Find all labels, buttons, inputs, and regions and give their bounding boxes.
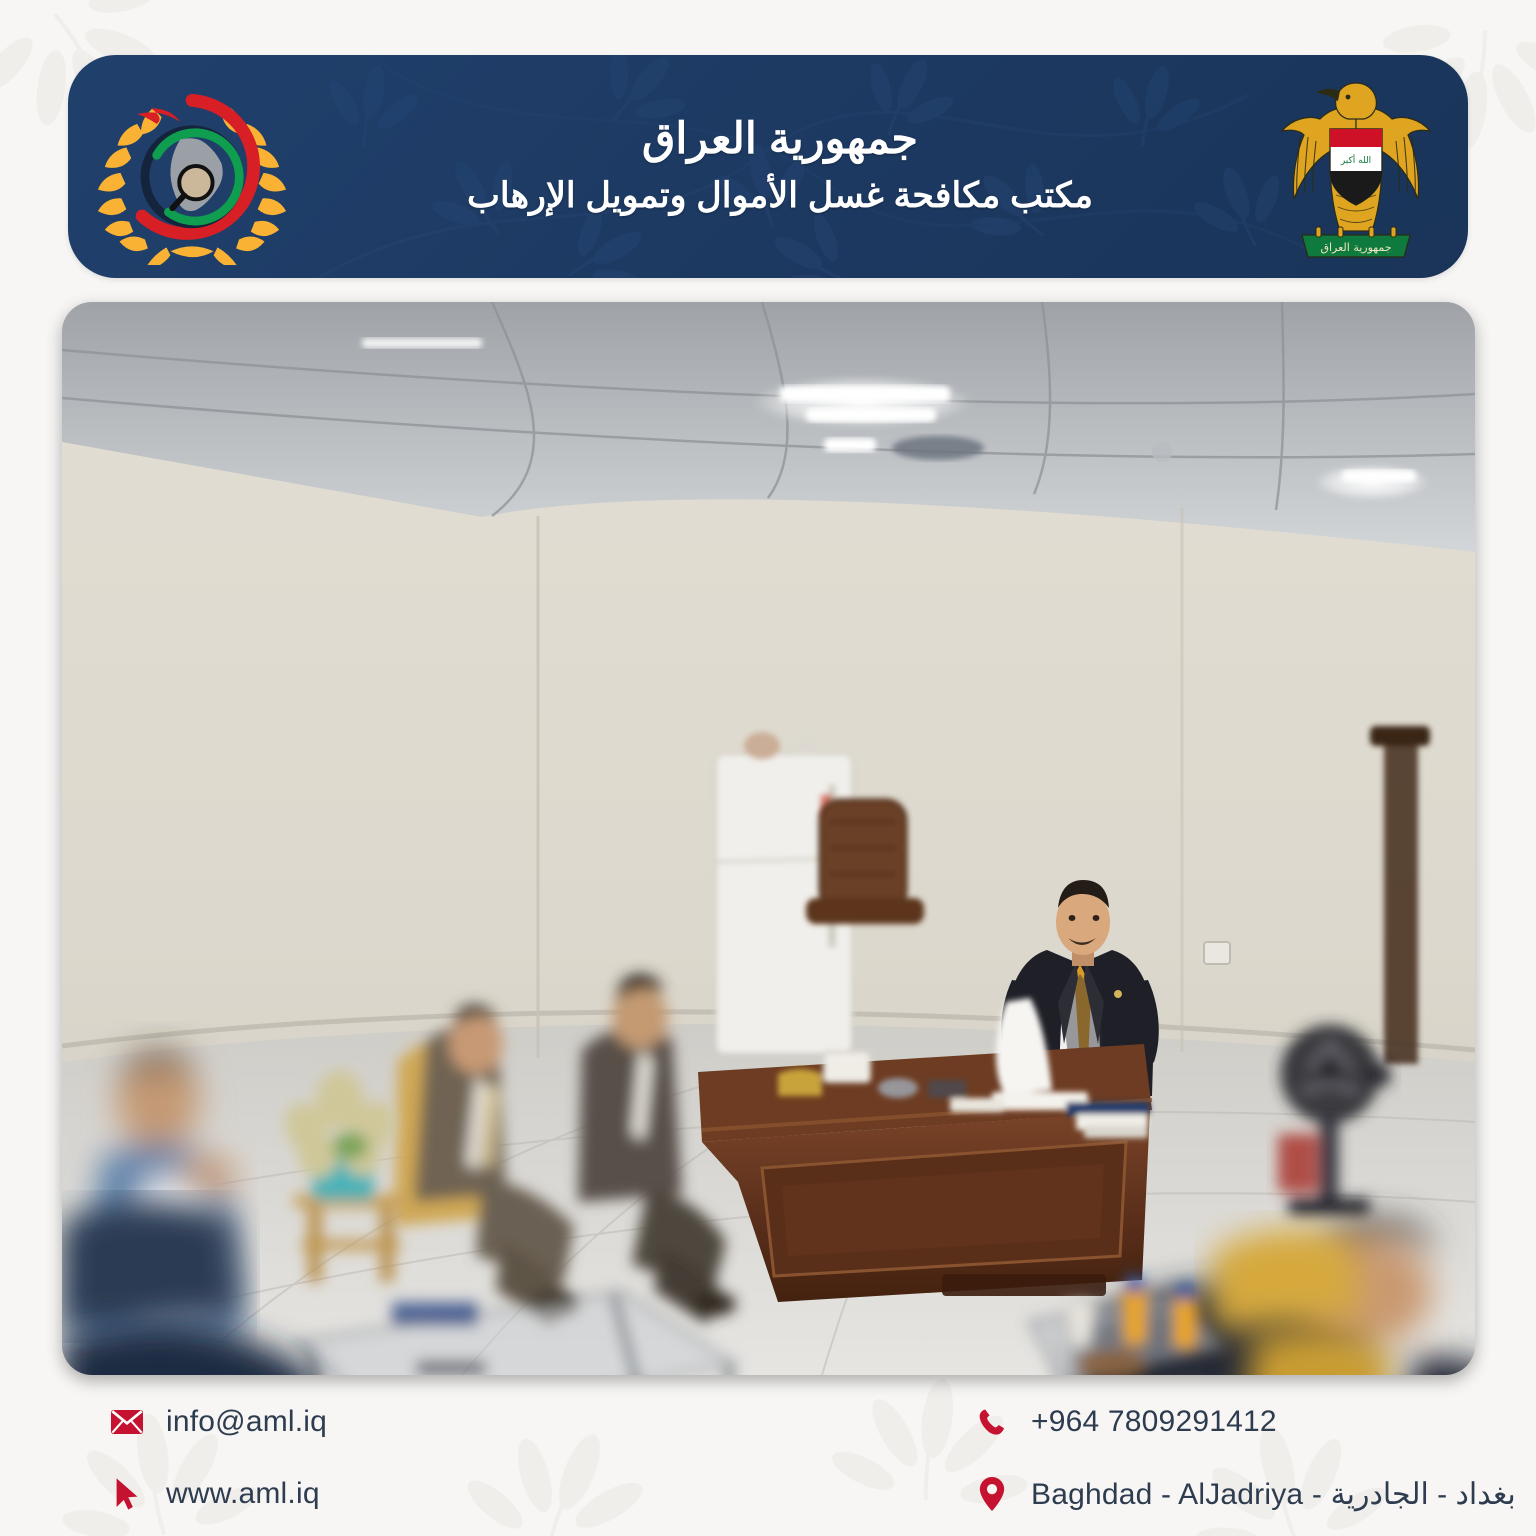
svg-text:الله أكبر: الله أكبر: [1340, 154, 1371, 166]
footer-contacts-right: +964 7809291412 Baghdad - AlJadriya - بغ…: [975, 1400, 1516, 1516]
tissue-box: [824, 1052, 870, 1082]
contact-address[interactable]: Baghdad - AlJadriya - بغداد - الجادرية: [975, 1472, 1516, 1516]
juice-bottle: [1122, 1288, 1148, 1346]
address-text: Baghdad - AlJadriya - بغداد - الجادرية: [1031, 1477, 1516, 1512]
cursor-arrow-icon: [110, 1477, 144, 1511]
website-text: www.aml.iq: [166, 1477, 320, 1511]
ceiling-light-panel-left: [362, 338, 482, 348]
contact-phone[interactable]: +964 7809291412: [975, 1400, 1516, 1444]
juice-bottle: [1172, 1296, 1198, 1350]
meeting-photo-illustration: [62, 302, 1475, 1375]
iraq-eagle-of-saladin-emblem: الله أكبر جمهورية العراق: [1270, 67, 1442, 267]
contact-email[interactable]: info@aml.iq: [110, 1400, 327, 1444]
header-title-block: جمهورية العراق مكتب مكافحة غسل الأموال و…: [290, 113, 1270, 218]
lapel-pin: [1114, 990, 1122, 998]
gold-basket: [778, 1069, 822, 1096]
social-media-card: جمهورية العراق مكتب مكافحة غسل الأموال و…: [0, 0, 1536, 1536]
svg-text:جمهورية العراق: جمهورية العراق: [1320, 241, 1391, 254]
page-title: جمهورية العراق: [300, 113, 1260, 167]
executive-desk: [698, 1044, 1152, 1302]
smoke-detector: [1152, 442, 1172, 462]
chair-back-left-foreground: [62, 1203, 242, 1330]
location-pin-icon: [975, 1477, 1009, 1511]
footer-contact-bar: info@aml.iq www.aml.iq +964 78092914: [0, 1400, 1536, 1536]
blue-folder: [1066, 1102, 1150, 1116]
contact-website[interactable]: www.aml.iq: [110, 1472, 327, 1516]
footer-contacts-left: info@aml.iq www.aml.iq: [110, 1400, 327, 1516]
aml-office-wreath-logo: [94, 69, 290, 265]
meeting-photo: [62, 302, 1475, 1375]
header-banner: جمهورية العراق مكتب مكافحة غسل الأموال و…: [68, 55, 1468, 278]
phone-icon: [975, 1405, 1009, 1439]
wall-socket: [1204, 942, 1230, 964]
emblem-banner: جمهورية العراق: [1302, 235, 1410, 257]
page-subtitle: مكتب مكافحة غسل الأموال وتمويل الإرهاب: [300, 173, 1260, 219]
email-icon: [110, 1405, 144, 1439]
phone-text: +964 7809291412: [1031, 1405, 1277, 1439]
email-text: info@aml.iq: [166, 1405, 327, 1439]
office-chair: [806, 800, 924, 924]
ceiling-light-panel-right: [1314, 464, 1430, 500]
